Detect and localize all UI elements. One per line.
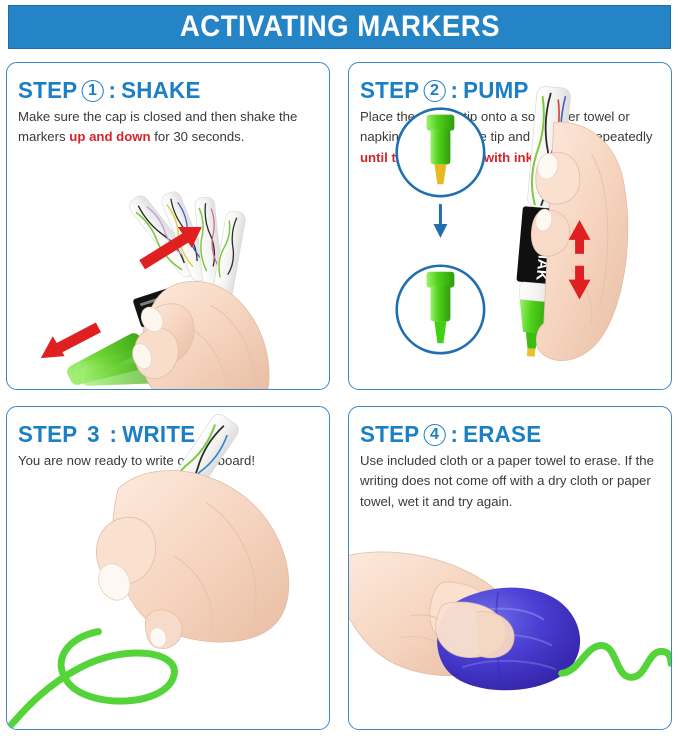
step-panel-2: STEP 2 : PUMP Place the marker tip onto … xyxy=(348,62,672,390)
step-1-body: Make sure the cap is closed and then sha… xyxy=(18,107,320,148)
hand-holding-markers xyxy=(129,281,269,389)
page-title: ACTIVATING MARKERS xyxy=(179,10,499,44)
hand-with-cloth xyxy=(349,552,517,676)
step-1-action: SHAKE xyxy=(121,77,201,104)
red-diagonal-arrow-down-left xyxy=(41,327,99,358)
step-4-number-badge: 4 xyxy=(424,424,446,446)
step-2-step-word: STEP xyxy=(360,77,419,104)
step-2-separator: : xyxy=(450,77,458,104)
step-3-separator: : xyxy=(110,421,118,448)
marker-label-band xyxy=(132,281,200,328)
step-3-body: You are now ready to write on the board! xyxy=(18,451,320,471)
tip-closeup-after xyxy=(397,266,484,353)
fingers-over-cloth xyxy=(436,602,514,658)
step-panel-3: STEP 3 : WRITE You are now ready to writ… xyxy=(6,406,330,730)
green-squiggle-residue xyxy=(562,646,671,678)
step-4-body: Use included cloth or a paper towel to e… xyxy=(360,451,662,512)
microfiber-cloth xyxy=(437,588,580,691)
step-3-text-a: You are now ready to write on the board! xyxy=(18,453,255,468)
step-panel-1: STEP 1 : SHAKE Make sure the cap is clos… xyxy=(6,62,330,390)
step-3-action: WRITE xyxy=(122,421,195,448)
red-arrow-down-icon xyxy=(569,266,591,300)
infographic-page: ACTIVATING MARKERS STEP 1 : SHAKE Make s… xyxy=(0,0,679,736)
fingernail xyxy=(137,303,167,335)
step-2-action: PUMP xyxy=(463,77,529,104)
step-2-body: Place the marker tip onto a soft paper t… xyxy=(360,107,662,168)
step-1-text-b: for 30 seconds. xyxy=(151,129,245,144)
red-arrow-up-icon xyxy=(569,220,591,254)
step-1-step-word: STEP xyxy=(18,77,77,104)
step-3-number: 3 xyxy=(82,421,104,448)
step-4-separator: : xyxy=(450,421,458,448)
step-2-heading: STEP 2 : PUMP xyxy=(360,77,529,104)
fingernail xyxy=(129,341,155,371)
step-2-text-highlight: until the tip is filled with ink. xyxy=(360,150,537,165)
step-2-number-badge: 2 xyxy=(424,80,446,102)
fingernail xyxy=(534,208,553,232)
step-3-step-word: STEP xyxy=(18,421,77,448)
step-4-step-word: STEP xyxy=(360,421,419,448)
marker-caps-group xyxy=(65,331,155,388)
green-ink-loop xyxy=(7,632,174,729)
marker-brand-text: POPMAK xyxy=(532,215,554,282)
blue-arrow-down-icon xyxy=(433,204,447,238)
red-diagonal-arrow-up-right xyxy=(142,227,202,265)
step-4-text-a: Use included cloth or a paper towel to e… xyxy=(360,453,654,509)
step-panel-4: STEP 4 : ERASE Use included cloth or a p… xyxy=(348,406,672,730)
header-banner: ACTIVATING MARKERS xyxy=(8,5,671,49)
marker-brand-label: POPMAK xyxy=(516,206,562,285)
step-3-heading: STEP 3 : WRITE xyxy=(18,421,195,448)
step-4-heading: STEP 4 : ERASE xyxy=(360,421,541,448)
step-1-heading: STEP 1 : SHAKE xyxy=(18,77,201,104)
hand-writing xyxy=(93,470,289,649)
fingernail xyxy=(93,558,136,605)
step-1-number-badge: 1 xyxy=(82,80,104,102)
step-4-action: ERASE xyxy=(463,421,541,448)
step-2-text-a: Place the marker tip onto a soft paper t… xyxy=(360,109,653,144)
step-1-text-highlight: up and down xyxy=(69,129,150,144)
marker-bodies-group xyxy=(126,189,246,299)
step-1-separator: : xyxy=(108,77,116,104)
fingernail xyxy=(148,626,168,649)
